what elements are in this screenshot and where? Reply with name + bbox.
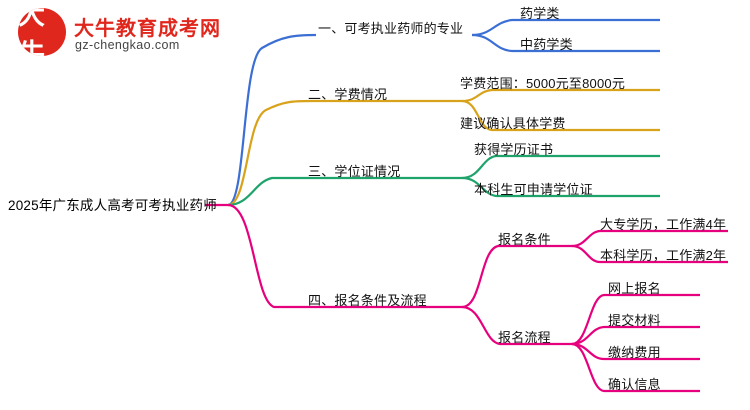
logo-title: 大牛教育成考网 (74, 12, 221, 41)
mindmap-node-process-child4: 确认信息 (608, 378, 661, 393)
logo-subtitle: gz-chengkao.com (75, 38, 180, 52)
mindmap-node-branch2: 二、学费情况 (308, 88, 387, 103)
mindmap-node-condition-child2: 本科学历，工作满2年 (600, 249, 726, 264)
mindmap-node-branch4: 四、报名条件及流程 (308, 294, 427, 309)
mindmap-node-branch1: 一、可考执业药师的专业 (318, 22, 463, 37)
mindmap-node-process-child1: 网上报名 (608, 282, 661, 297)
mindmap-node-branch1-child1: 药学类 (520, 7, 560, 22)
logo-mark-icon: 大牛 (18, 8, 66, 56)
mindmap-node-branch2-child2: 建议确认具体学费 (460, 117, 566, 132)
mindmap-node-branch3-child1: 获得学历证书 (474, 143, 553, 158)
mindmap-node-branch3-child2: 本科生可申请学位证 (474, 183, 593, 198)
mindmap-node-branch4-condition: 报名条件 (498, 233, 551, 248)
mindmap-node-process-child2: 提交材料 (608, 314, 661, 329)
mindmap-node-branch3: 三、学位证情况 (308, 165, 400, 180)
mindmap-node-branch1-child2: 中药学类 (520, 38, 573, 53)
logo-mark-text: 大牛 (18, 8, 66, 56)
mindmap-root-node: 2025年广东成人高考可考执业药师 (8, 198, 217, 214)
mindmap-node-process-child3: 缴纳费用 (608, 346, 661, 361)
mindmap-node-branch4-process: 报名流程 (498, 331, 551, 346)
mindmap-node-condition-child1: 大专学历，工作满4年 (600, 218, 726, 233)
mindmap-canvas: 大牛 大牛教育成考网 gz-chengkao.com (0, 0, 750, 410)
mindmap-node-branch2-child1: 学费范围：5000元至8000元 (460, 77, 625, 92)
site-logo: 大牛 大牛教育成考网 gz-chengkao.com (18, 8, 233, 60)
